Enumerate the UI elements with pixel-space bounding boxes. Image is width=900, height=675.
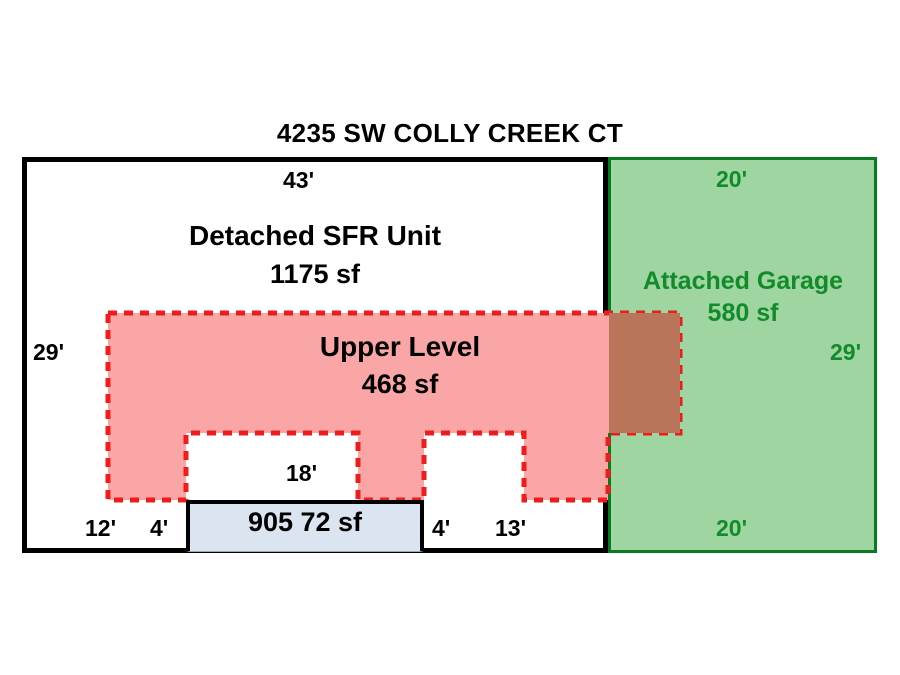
floor-plan-canvas: 4235 SW COLLY CREEK CT 43' 20' Detached …	[0, 0, 900, 675]
dimension-bottom-right-13: 13'	[495, 516, 526, 541]
detached-unit-area: 1175 sf	[155, 260, 475, 289]
detached-unit-label: Detached SFR Unit	[155, 221, 475, 251]
dimension-bottom-left-step-4: 4'	[150, 516, 168, 541]
upper-level-garage-overlap	[609, 313, 680, 433]
page-title: 4235 SW COLLY CREEK CT	[0, 118, 900, 149]
dimension-left-29: 29'	[33, 340, 64, 365]
attached-garage-label: Attached Garage	[614, 268, 872, 295]
porch-area-label: 905 72 sf	[186, 508, 424, 537]
dimension-garage-right-29: 29'	[830, 340, 861, 365]
dimension-top-43: 43'	[283, 168, 314, 193]
dimension-garage-top-20: 20'	[716, 167, 747, 192]
dimension-bottom-right-step-4: 4'	[432, 516, 450, 541]
upper-level-area: 468 sf	[240, 370, 560, 399]
upper-level-label: Upper Level	[240, 332, 560, 362]
dimension-notch-18: 18'	[286, 461, 317, 486]
attached-garage-area: 580 sf	[614, 300, 872, 327]
dimension-garage-bottom-20: 20'	[716, 516, 747, 541]
dimension-bottom-left-12: 12'	[85, 516, 116, 541]
